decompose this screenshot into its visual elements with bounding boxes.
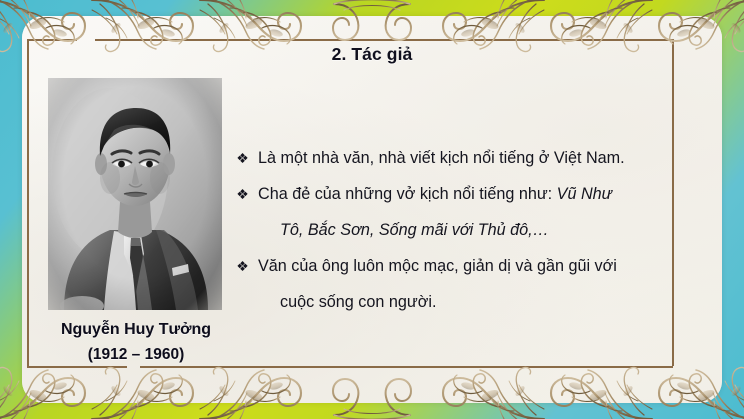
slide-title: 2. Tác giả	[0, 44, 744, 65]
bullet-text-run: Cha đẻ của những vở kịch nổi tiếng như:	[258, 185, 557, 203]
bullet-text: cuộc sống con người.	[258, 284, 696, 320]
bullet-text: Tô, Bắc Sơn, Sống mãi với Thủ đô,…	[258, 212, 696, 248]
bullet-item: ❖Cha đẻ của những vở kịch nổi tiếng như:…	[236, 176, 696, 212]
bullet-item: cuộc sống con người.	[236, 284, 696, 320]
portrait-caption: Nguyễn Huy Tưởng (1912 – 1960)	[18, 318, 254, 367]
bullet-item: Tô, Bắc Sơn, Sống mãi với Thủ đô,…	[236, 212, 696, 248]
bullet-list: ❖Là một nhà văn, nhà viết kịch nổi tiếng…	[236, 140, 696, 320]
bullet-item: ❖Văn của ông luôn mộc mạc, giản dị và gầ…	[236, 248, 696, 284]
bullet-text-run: Là một nhà văn, nhà viết kịch nổi tiếng …	[258, 149, 625, 167]
bullet-text-run: Văn của ông luôn mộc mạc, giản dị và gần…	[258, 257, 617, 275]
portrait-photo	[48, 78, 222, 310]
diamond-bullet-icon: ❖	[236, 140, 249, 176]
bullet-text-italic-run: Vũ Như	[557, 185, 612, 203]
frame-left-line	[27, 39, 29, 366]
bullet-text: Văn của ông luôn mộc mạc, giản dị và gần…	[258, 248, 696, 284]
slide-canvas: 2. Tác giả	[0, 0, 744, 419]
portrait-caption-name: Nguyễn Huy Tưởng	[18, 318, 254, 343]
bullet-item: ❖Là một nhà văn, nhà viết kịch nổi tiếng…	[236, 140, 696, 176]
portrait-caption-years: (1912 – 1960)	[18, 343, 254, 367]
diamond-bullet-icon: ❖	[236, 248, 249, 284]
frame-top-right-segment	[95, 39, 673, 41]
diamond-bullet-icon: ❖	[236, 176, 249, 212]
portrait-photo-image	[48, 78, 222, 310]
frame-top-left-segment	[27, 39, 77, 41]
bullet-text-italic-run: Tô, Bắc Sơn, Sống mãi với Thủ đô,…	[280, 221, 549, 239]
bullet-text: Cha đẻ của những vở kịch nổi tiếng như: …	[258, 176, 696, 212]
bullet-text-run: cuộc sống con người.	[280, 293, 436, 311]
bullet-text: Là một nhà văn, nhà viết kịch nổi tiếng …	[258, 140, 696, 176]
